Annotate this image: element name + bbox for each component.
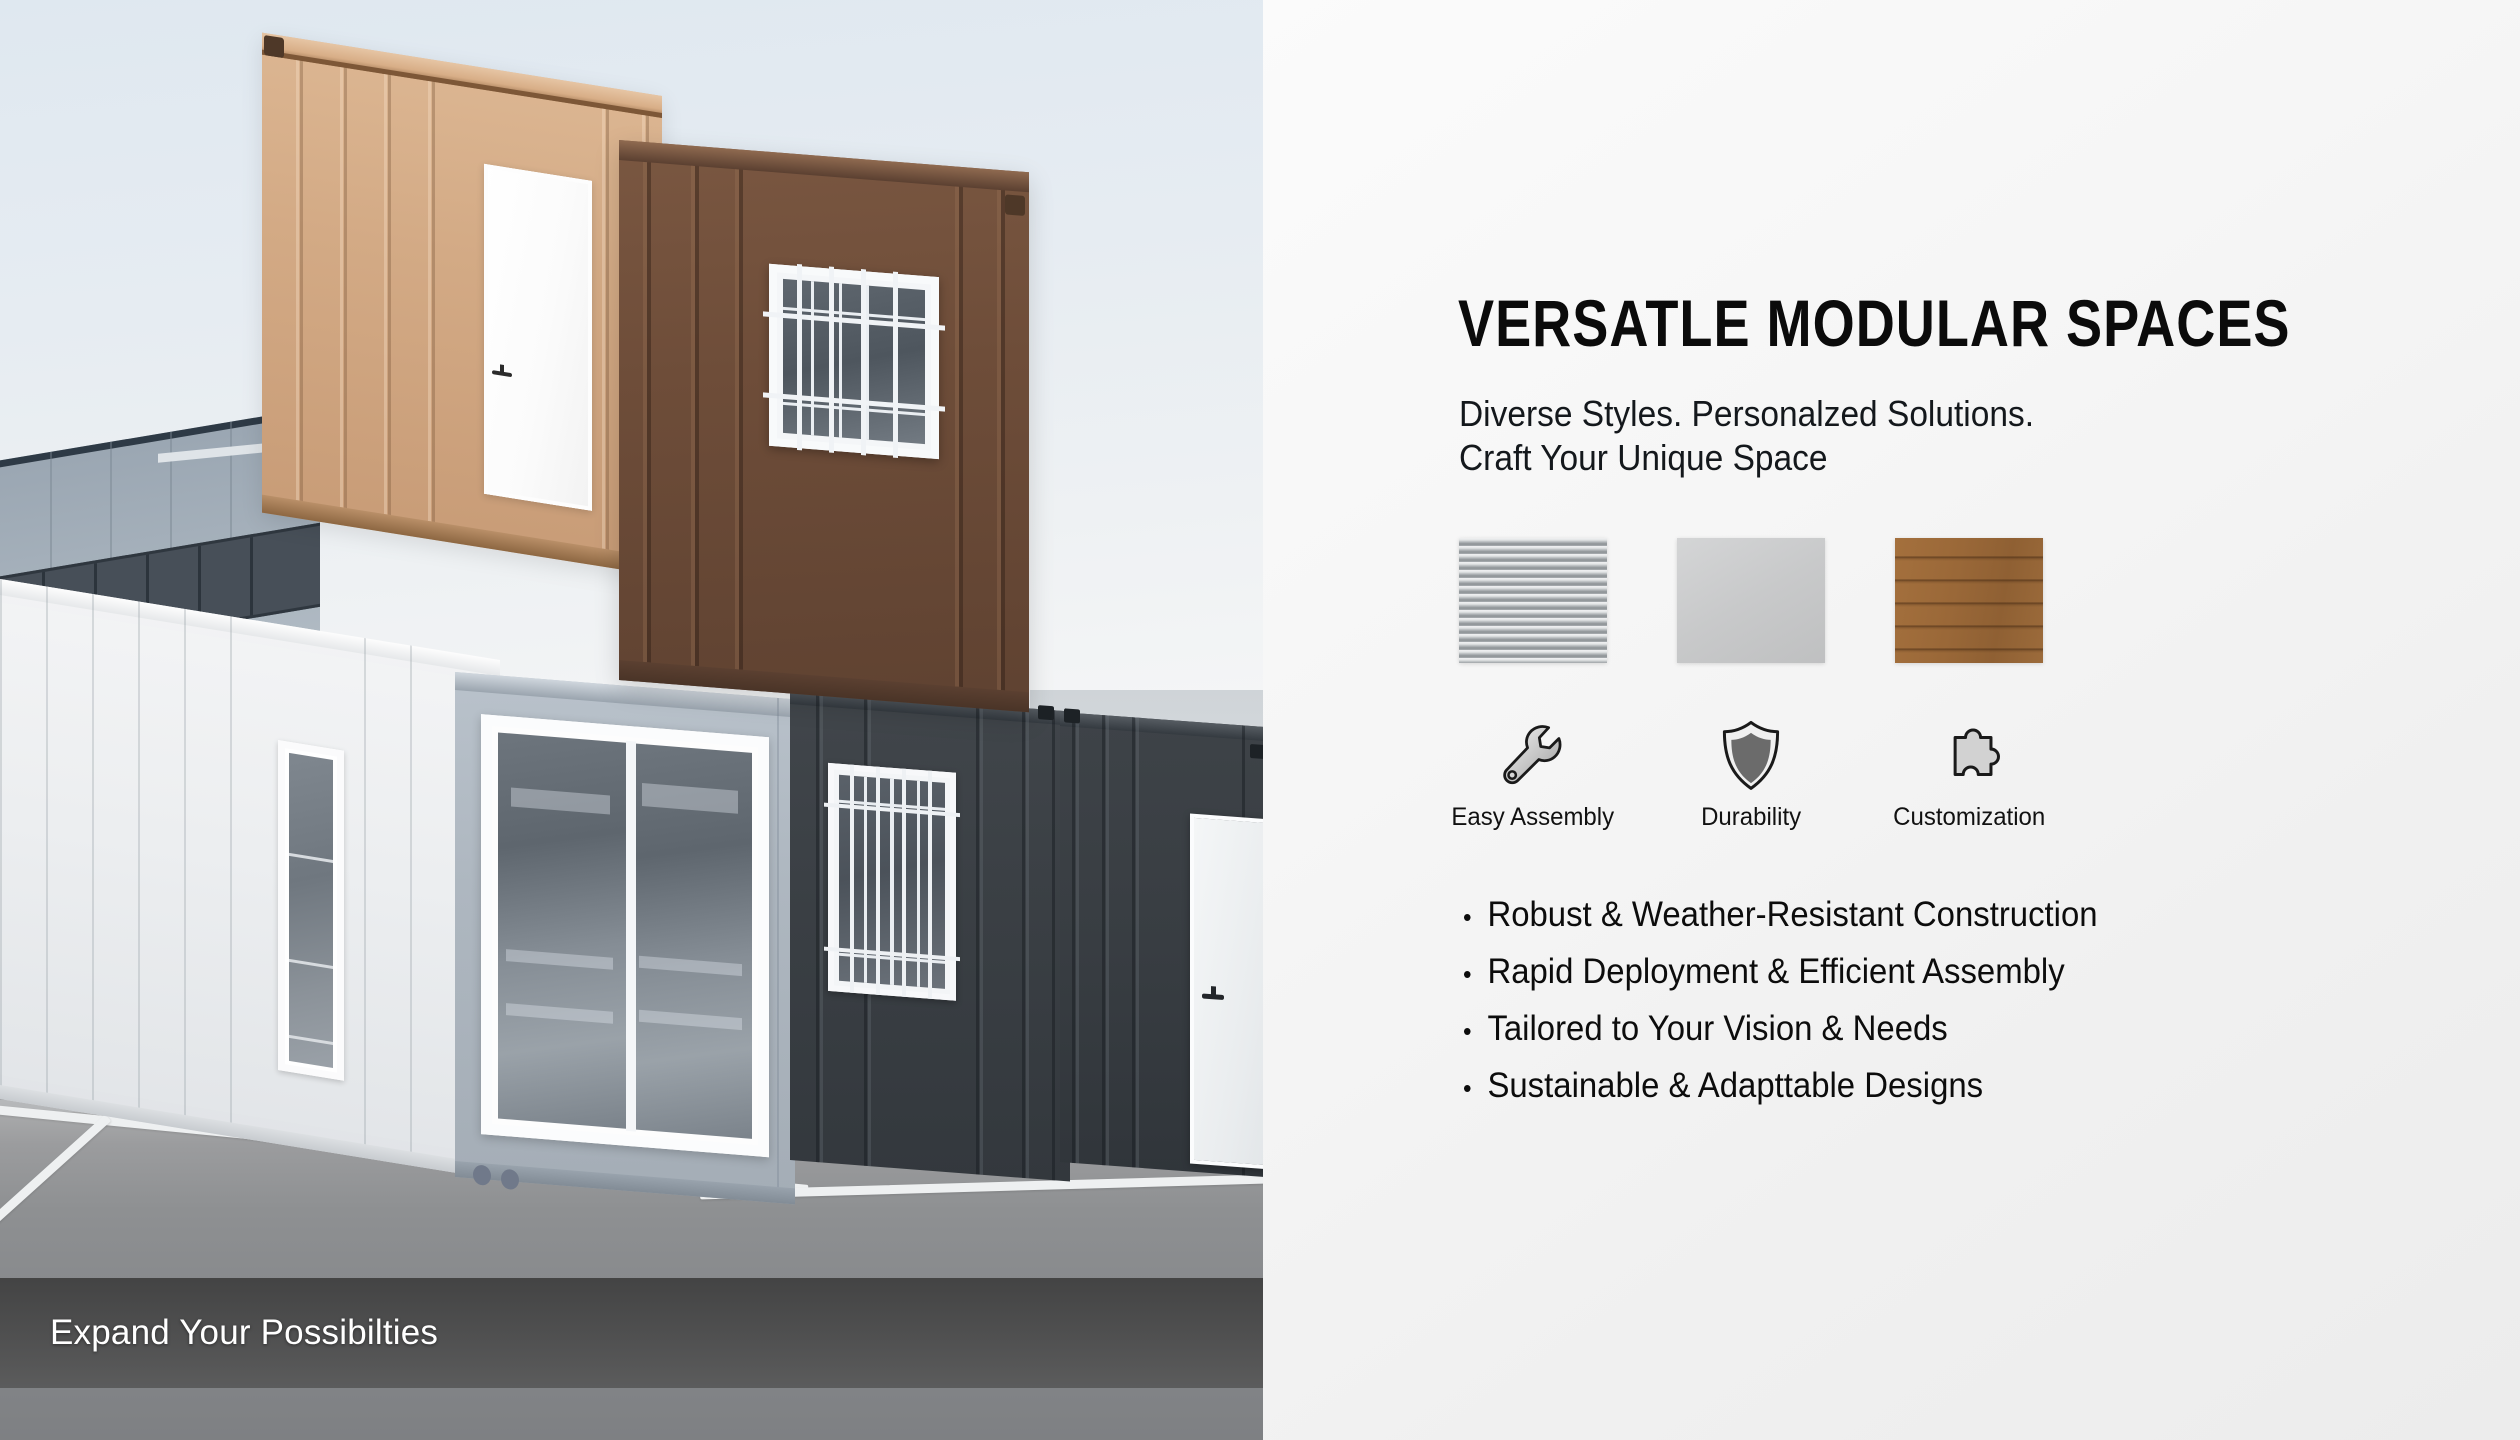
container-dark-lower-left bbox=[790, 690, 1070, 1182]
container-brown-upper bbox=[619, 140, 1029, 712]
container-tan-upper bbox=[262, 33, 662, 576]
bullet-marker: • bbox=[1463, 961, 1487, 987]
window-barred-brown bbox=[769, 264, 939, 459]
subheadline: Diverse Styles. Personalzed Solutions. C… bbox=[1459, 392, 2034, 480]
bullet-marker: • bbox=[1463, 904, 1487, 930]
info-panel: VERSATLE MODULAR SPACES Diverse Styles. … bbox=[1263, 0, 2520, 1440]
swatch-smooth-panel bbox=[1677, 538, 1825, 663]
door-white-dark-container bbox=[1190, 814, 1263, 1171]
product-banner: Expand Your Possibilties VERSATLE MODULA… bbox=[0, 0, 2520, 1440]
list-item-label: Tailored to Your Vision & Needs bbox=[1487, 1009, 1947, 1049]
photo-caption-text: Expand Your Possibilties bbox=[50, 1313, 438, 1353]
subheadline-line-1: Diverse Styles. Personalzed Solutions. bbox=[1459, 392, 2034, 436]
material-swatch-row bbox=[1459, 538, 2159, 663]
product-photo: Expand Your Possibilties bbox=[0, 0, 1263, 1440]
bullet-marker: • bbox=[1463, 1018, 1487, 1044]
puzzle-piece-icon bbox=[1932, 715, 2006, 797]
list-item: • Rapid Deployment & Efficient Assembly bbox=[1463, 952, 2098, 992]
container-bluegray-lower bbox=[455, 672, 795, 1204]
bullet-marker: • bbox=[1463, 1075, 1487, 1101]
feature-durability: Durability bbox=[1677, 715, 1825, 832]
feature-easy-assembly: Easy Assembly bbox=[1459, 715, 1607, 832]
list-item-label: Sustainable & Adapttable Designs bbox=[1487, 1066, 1983, 1106]
container-dark-lower-right bbox=[1060, 712, 1263, 1178]
swatch-wood-cladding bbox=[1895, 538, 2043, 663]
feature-label-customization: Customization bbox=[1893, 803, 2045, 832]
list-item-label: Robust & Weather-Resistant Construction bbox=[1487, 895, 2097, 935]
subheadline-line-2: Craft Your Unique Space bbox=[1459, 436, 2034, 480]
list-item: • Robust & Weather-Resistant Constructio… bbox=[1463, 895, 2098, 935]
feature-customization: Customization bbox=[1895, 715, 2043, 832]
list-item: • Sustainable & Adapttable Designs bbox=[1463, 1066, 2098, 1106]
door-white-tan-container bbox=[484, 164, 592, 511]
list-item-label: Rapid Deployment & Efficient Assembly bbox=[1487, 952, 2064, 992]
feature-label-durability: Durability bbox=[1701, 803, 1801, 832]
wrench-icon bbox=[1496, 715, 1570, 797]
feature-row: Easy Assembly Durability Customizat bbox=[1459, 715, 2159, 832]
list-item: • Tailored to Your Vision & Needs bbox=[1463, 1009, 2098, 1049]
shield-icon bbox=[1718, 715, 1784, 797]
sliding-glass-door bbox=[481, 714, 769, 1157]
headline: VERSATLE MODULAR SPACES bbox=[1458, 285, 2290, 361]
benefit-list: • Robust & Weather-Resistant Constructio… bbox=[1463, 895, 2138, 1123]
window-barred-dark bbox=[828, 763, 956, 1001]
photo-caption-bar: Expand Your Possibilties bbox=[0, 1278, 1263, 1388]
window-narrow-white bbox=[278, 740, 344, 1081]
feature-label-easy-assembly: Easy Assembly bbox=[1452, 803, 1615, 832]
swatch-corrugated-metal bbox=[1459, 538, 1607, 663]
container-white-lower bbox=[0, 573, 500, 1180]
